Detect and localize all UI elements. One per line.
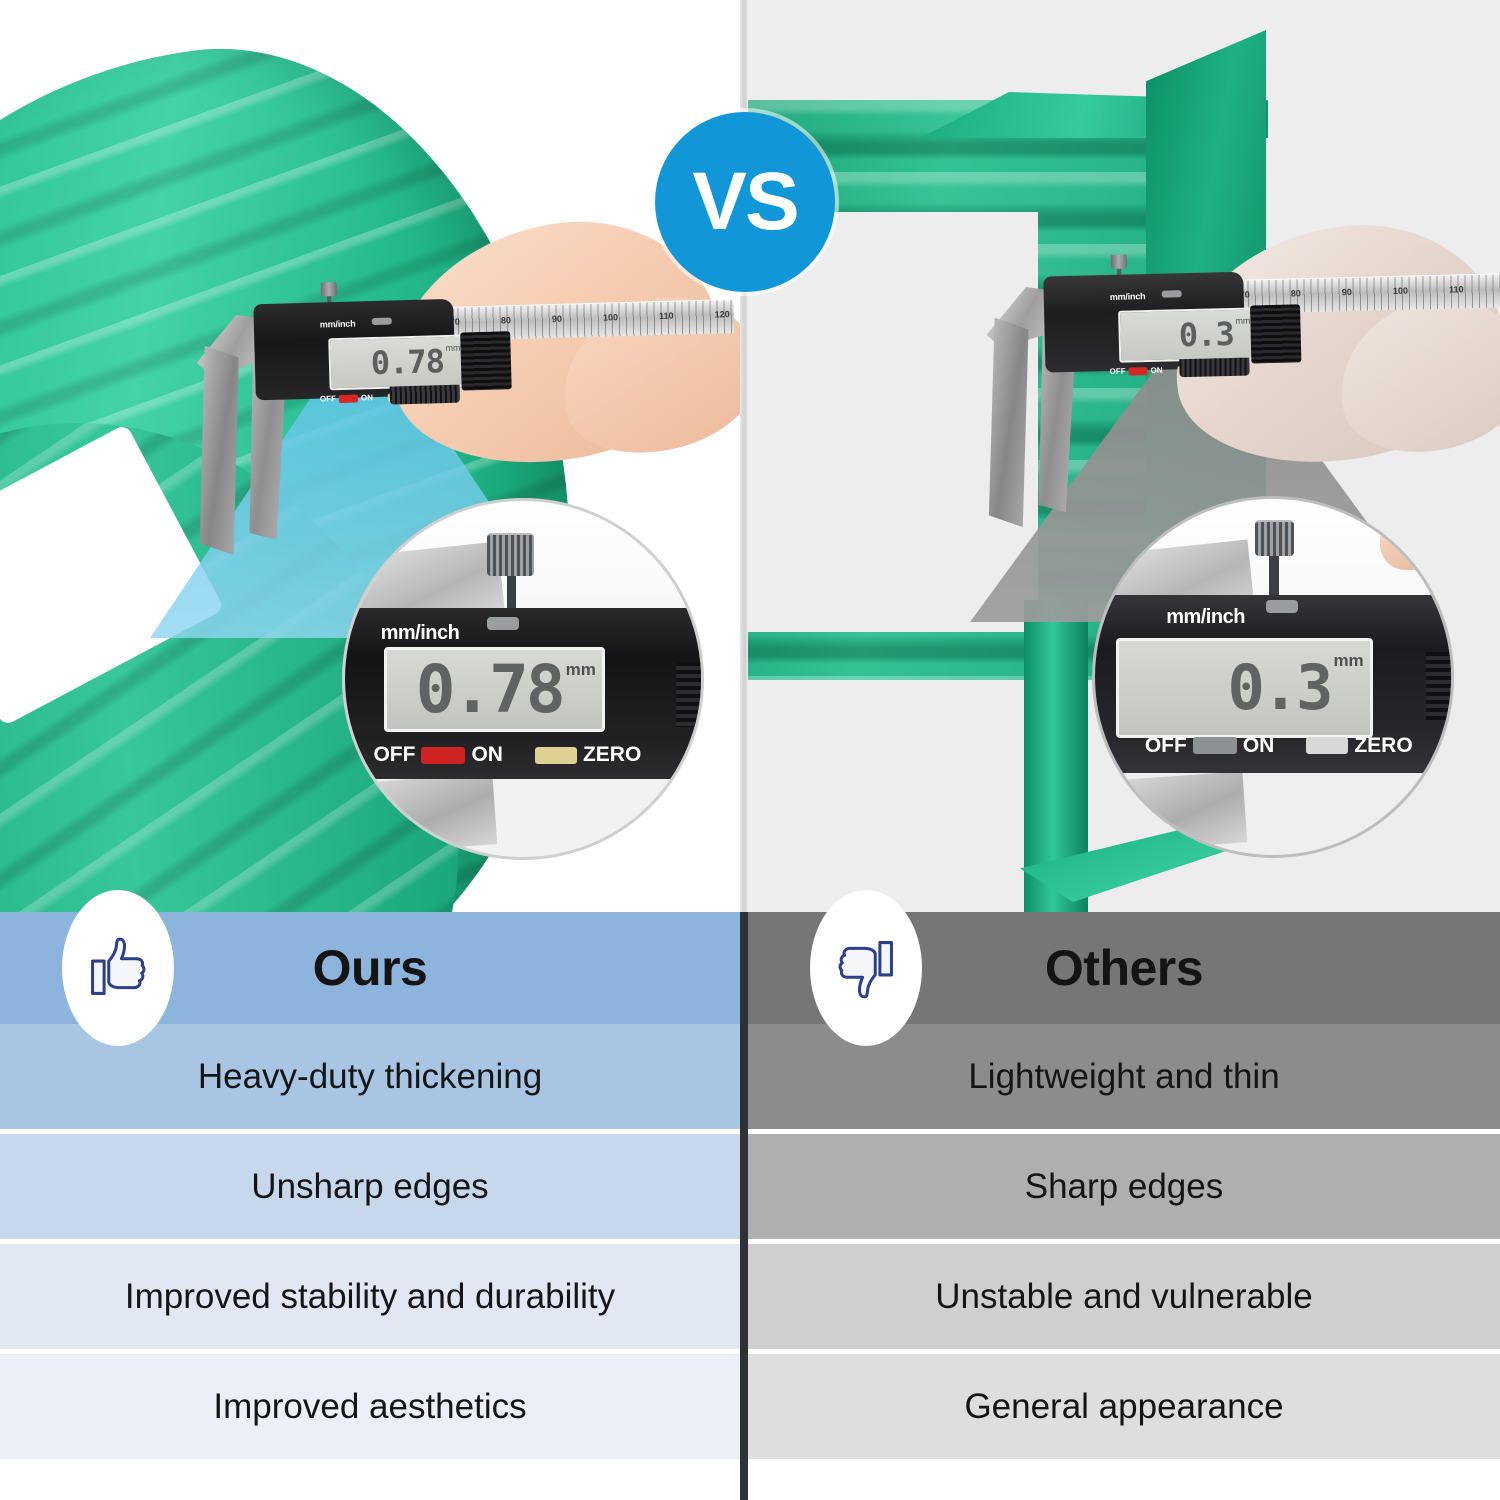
magnifier-lock-stem <box>1269 556 1278 595</box>
caliper-lock-screw <box>1111 255 1127 269</box>
scale-tick-label: 100 <box>1393 286 1408 296</box>
row-label: General appearance <box>964 1387 1283 1427</box>
photo-comparison-row: 70 80 90 100 110 120 mm/inch 0.78 mm <box>0 0 1500 912</box>
magnifier-mode-button <box>487 617 519 630</box>
magnifier-fingertip <box>1380 513 1437 570</box>
magnifier-button-row: OFF ON ZERO <box>1145 734 1413 758</box>
table-row: Improved stability and durability <box>0 1244 740 1354</box>
table-row: Unstable and vulnerable <box>748 1244 1500 1354</box>
row-label: Unsharp edges <box>251 1167 488 1207</box>
magnifier-zero-button <box>1306 737 1348 754</box>
magnifier-reading: 0.3 <box>1227 657 1330 719</box>
vs-badge: VS <box>655 112 835 292</box>
magnifier-power-switch <box>1193 737 1237 754</box>
magnifier-lock-stem <box>507 572 516 611</box>
row-label: Heavy-duty thickening <box>198 1057 542 1097</box>
table-row: Unsharp edges <box>0 1134 740 1244</box>
thumbs-up-icon <box>81 931 155 1005</box>
magnifier-lower-chrome <box>1092 771 1247 853</box>
magnifier-zero-label: ZERO <box>583 743 641 767</box>
caliper-lcd-display: 0.3 mm <box>1118 307 1257 362</box>
caliper-knurled-edge <box>1179 358 1249 378</box>
caliper-power-switch <box>1128 367 1147 375</box>
magnifier-lcd-display: 0.78 mm <box>384 647 605 732</box>
ours-header-row: Ours <box>0 912 740 1024</box>
scale-tick-label: 110 <box>1449 284 1464 294</box>
caliper-mode-button <box>372 318 392 326</box>
caliper-knurled-edge <box>390 385 460 405</box>
comparison-column-ours: Ours Heavy-duty thickening Unsharp edges… <box>0 912 740 1464</box>
caliper-unit: mm <box>445 343 460 353</box>
table-row: Improved aesthetics <box>0 1354 740 1464</box>
magnifier-zero-label: ZERO <box>1354 734 1412 758</box>
caliper-mode-button <box>1162 290 1182 297</box>
table-row: General appearance <box>748 1354 1500 1464</box>
magnifier-thumb-grip <box>676 662 704 727</box>
thumbs-down-icon <box>829 931 903 1005</box>
thumbs-down-badge <box>810 890 922 1046</box>
magnifier-off-label: OFF <box>1145 734 1187 758</box>
caliper-thumb-grip <box>1250 304 1301 363</box>
comparison-infographic: 70 80 90 100 110 120 mm/inch 0.78 mm <box>0 0 1500 1500</box>
scale-tick-label: 120 <box>715 309 730 319</box>
caliper-power-switch <box>339 394 358 403</box>
row-label: Unstable and vulnerable <box>935 1277 1312 1317</box>
thumbs-up-badge <box>62 890 174 1046</box>
left-magnified-detail: mm/inch 0.78 mm OFF ON ZERO <box>342 498 704 860</box>
magnifier-unit: mm <box>1333 651 1363 671</box>
magnifier-button-row: OFF ON ZERO <box>373 743 641 767</box>
row-label: Lightweight and thin <box>968 1057 1279 1097</box>
caliper-on-label: ON <box>1150 366 1162 375</box>
row-label: Improved stability and durability <box>125 1277 615 1317</box>
magnifier-mode-label: mm/inch <box>1166 606 1245 629</box>
magnifier-mode-label: mm/inch <box>381 622 460 645</box>
scale-tick-label: 80 <box>501 315 511 325</box>
magnifier-unit: mm <box>566 660 596 680</box>
scale-tick-label: 90 <box>552 314 562 324</box>
magnifier-on-label: ON <box>471 743 503 767</box>
right-product-photo: 70 80 90 100 110 120 mm/inch 0.3 mm <box>748 0 1500 912</box>
scale-tick-label: 100 <box>603 312 618 322</box>
scale-tick-label: 90 <box>1342 287 1352 297</box>
table-column-divider <box>740 912 748 1500</box>
magnifier-lcd-display: 0.3 mm <box>1116 638 1372 738</box>
caliper-lock-screw <box>321 282 337 296</box>
scale-tick-label: 110 <box>659 311 674 321</box>
row-label: Improved aesthetics <box>213 1387 526 1427</box>
caliper-mode-label: mm/inch <box>1110 291 1146 302</box>
caliper-off-label: OFF <box>320 394 336 403</box>
others-header-row: Others <box>748 912 1500 1024</box>
magnifier-lock-screw <box>487 533 533 576</box>
magnifier-lock-screw <box>1255 520 1294 556</box>
caliper-lcd-display: 0.78 mm <box>328 334 467 390</box>
caliper-thumb-grip <box>460 331 512 390</box>
caliper-off-label: OFF <box>1109 367 1125 376</box>
left-product-photo: 70 80 90 100 110 120 mm/inch 0.78 mm <box>0 0 740 912</box>
magnifier-reading: 0.78 <box>416 657 563 723</box>
caliper-reading: 0.3 <box>1179 318 1235 351</box>
right-magnified-detail: mm/inch 0.3 mm OFF ON ZERO <box>1092 496 1454 858</box>
caliper-mode-label: mm/inch <box>320 319 356 330</box>
magnifier-off-label: OFF <box>373 743 415 767</box>
comparison-column-others: Others Lightweight and thin Sharp edges … <box>748 912 1500 1464</box>
magnifier-mode-button <box>1266 600 1298 613</box>
caliper-on-label: ON <box>361 393 373 402</box>
caliper-reading: 0.78 <box>370 345 444 379</box>
row-label: Sharp edges <box>1025 1167 1223 1207</box>
caliper-unit: mm <box>1235 316 1250 326</box>
magnifier-lower-chrome <box>342 773 497 855</box>
scale-tick-label: 80 <box>1291 288 1301 298</box>
magnifier-on-label: ON <box>1243 734 1275 758</box>
magnifier-zero-button <box>535 747 577 764</box>
magnifier-thumb-grip <box>1426 652 1454 720</box>
vs-label: VS <box>692 155 797 249</box>
magnifier-power-switch <box>421 747 465 764</box>
table-row: Sharp edges <box>748 1134 1500 1244</box>
comparison-table: Ours Heavy-duty thickening Unsharp edges… <box>0 912 1500 1500</box>
